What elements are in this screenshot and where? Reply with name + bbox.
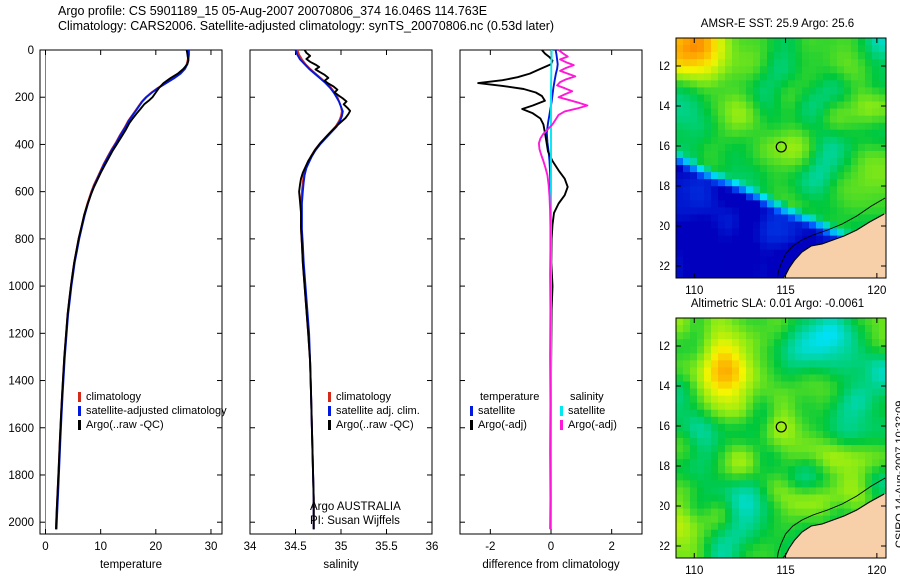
map-cell [865,374,873,382]
map-cell [711,438,719,446]
map-cell [844,396,852,404]
map-cell [816,318,824,326]
map-cell [676,346,684,354]
map-cell [774,250,782,258]
map-cell [753,410,761,418]
map-cell [760,551,768,559]
map-cell [697,431,705,439]
map-cell [746,109,754,117]
map-cell [795,207,803,215]
map-cell [774,214,782,222]
map-cell [718,144,726,152]
map-cell [816,214,824,222]
map-cell [795,45,803,53]
map-cell [690,257,698,265]
map-cell [767,382,775,390]
map-cell [788,45,796,53]
map-cell [676,186,684,194]
map-cell [823,466,831,474]
map-cell [704,236,712,244]
map-cell [774,236,782,244]
map-cell [781,367,789,375]
map-cell [830,389,838,397]
map-cell [858,116,866,124]
map-cell [725,466,733,474]
sla-map[interactable]: 110115120-12-14-16-18-20-22 [660,314,898,576]
map-cell [872,459,880,467]
map-cell [809,318,817,326]
map-cell [746,374,754,382]
map-cell [809,473,817,481]
map-cell [788,66,796,74]
map-cell [851,353,859,361]
map-cell [879,417,887,425]
map-cell [718,494,726,502]
map-cell [732,87,740,95]
map-cell [676,360,684,368]
map-cell [760,222,768,230]
map-cell [697,516,705,524]
map-cell [844,193,852,201]
map-cell [697,144,705,152]
map-cell [767,516,775,524]
map-cell [844,424,852,432]
map-cell [781,523,789,531]
map-cell [816,94,824,102]
map-cell [767,236,775,244]
map-cell [788,222,796,230]
map-cell [823,158,831,166]
map-cell [697,80,705,88]
map-cell [746,360,754,368]
map-cell [718,523,726,531]
map-cell [879,172,887,180]
map-cell [781,130,789,138]
map-cell [795,346,803,354]
map-cell [697,116,705,124]
map-cell [823,59,831,67]
map-cell [795,452,803,460]
map-cell [704,271,712,279]
map-cell [690,382,698,390]
map-cell [865,66,873,74]
x-tick-label: -2 [485,541,495,553]
map-cell [837,346,845,354]
map-cell [851,52,859,60]
map-cell [802,66,810,74]
map-cell [795,509,803,517]
legend-swatch [560,406,563,416]
map-cell [746,236,754,244]
map-cell [690,544,698,552]
map-cell [725,551,733,559]
map-cell [676,410,684,418]
map-cell [746,438,754,446]
map-cell [872,382,880,390]
map-cell [872,102,880,110]
map-cell [830,445,838,453]
map-cell [739,130,747,138]
map-cell [753,222,761,230]
map-cell [739,87,747,95]
map-cell [746,452,754,460]
map-cell [809,367,817,375]
map-cell [781,38,789,46]
map-cell [690,200,698,208]
map-cell [788,360,796,368]
map-cell [844,165,852,173]
map-cell [739,452,747,460]
map-cell [697,52,705,60]
map-cell [697,123,705,131]
map-cell [795,116,803,124]
map-cell [781,452,789,460]
map-cell [725,396,733,404]
map-cell [676,509,684,517]
map-cell [732,236,740,244]
map-cell [732,229,740,237]
map-cell [865,172,873,180]
map-cell [739,80,747,88]
map-cell [676,403,684,411]
map-cell [774,374,782,382]
map-cell [704,424,712,432]
map-cell [746,257,754,265]
map-cell [676,45,684,53]
map-cell [697,158,705,166]
map-cell [760,102,768,110]
map-cell [823,207,831,215]
map-cell [690,466,698,474]
map-cell [746,502,754,510]
map-cell [746,250,754,258]
map-cell [746,66,754,74]
legend-label: climatology [86,391,142,403]
map-cell [802,346,810,354]
map-cell [879,158,887,166]
map-cell [711,80,719,88]
map-cell [837,87,845,95]
map-cell [676,473,684,481]
sst-map[interactable]: 110115120-12-14-16-18-20-22 [660,34,898,296]
map-cell [746,339,754,347]
map-cell [844,431,852,439]
map-cell [858,332,866,340]
map-cell [718,193,726,201]
map-cell [753,229,761,237]
map-cell [683,243,691,251]
x-axis-label: temperature [100,559,162,571]
map-cell [711,431,719,439]
map-cell [809,424,817,432]
map-cell [725,318,733,326]
map-cell [732,396,740,404]
map-cell [704,59,712,67]
map-cell [844,403,852,411]
map-cell [683,445,691,453]
y-tick-label: 0 [28,45,34,57]
map-cell [676,271,684,279]
map-cell [851,94,859,102]
map-cell [872,158,880,166]
map-cell [704,109,712,117]
map-cell [683,45,691,53]
map-cell [746,200,754,208]
map-cell [760,466,768,474]
map-cell [795,360,803,368]
map-cell [781,165,789,173]
map-cell [830,214,838,222]
map-cell [704,186,712,194]
map-cell [767,537,775,545]
map-cell [795,38,803,46]
map-cell [879,410,887,418]
map-cell [837,353,845,361]
map-cell [760,200,768,208]
map-cell [837,360,845,368]
map-cell [837,229,845,237]
map-cell [718,346,726,354]
map-cell [676,94,684,102]
map-cell [851,222,859,230]
map-cell [704,116,712,124]
map-cell [823,52,831,60]
map-cell [879,332,887,340]
map-cell [760,537,768,545]
map-cell [795,165,803,173]
map-cell [732,360,740,368]
map-cell [732,52,740,60]
map-cell [816,431,824,439]
map-cell [739,332,747,340]
x-tick-label: 2 [608,541,614,553]
map-cell [697,537,705,545]
map-cell [858,52,866,60]
map-cell [781,473,789,481]
map-cell [690,516,698,524]
map-cell [760,158,768,166]
map-cell [872,424,880,432]
map-cell [872,151,880,159]
map-cell [683,116,691,124]
map-cell [844,66,852,74]
map-cell [711,509,719,517]
legend-swatch [470,420,473,430]
map-cell [753,66,761,74]
map-cell [788,229,796,237]
map-cell [718,431,726,439]
legend-label: Argo(..raw -QC) [336,419,414,431]
map-cell [725,346,733,354]
map-cell [739,374,747,382]
map-cell [711,339,719,347]
map-cell [851,66,859,74]
map-cell [851,87,859,95]
map-cell [879,374,887,382]
map-cell [816,137,824,145]
map-cell [851,130,859,138]
map-cell [788,502,796,510]
map-cell [844,137,852,145]
map-cell [760,544,768,552]
map-cell [795,94,803,102]
map-cell [858,374,866,382]
map-cell [697,466,705,474]
map-cell [732,389,740,397]
map-cell [760,367,768,375]
map-cell [858,193,866,201]
map-cell [690,109,698,117]
map-cell [837,431,845,439]
map-cell [746,229,754,237]
map-cell [704,339,712,347]
map-cell [851,123,859,131]
map-cell [711,200,719,208]
map-cell [872,94,880,102]
map-cell [760,109,768,117]
map-cell [697,374,705,382]
map-cell [767,243,775,251]
map-cell [711,243,719,251]
map-cell [760,165,768,173]
map-cell [711,396,719,404]
map-cell [704,438,712,446]
y-tick-label: 1400 [8,376,34,388]
map-cell [809,144,817,152]
map-cell [746,367,754,375]
map-cell [788,530,796,538]
map-cell [830,410,838,418]
map-cell [823,374,831,382]
map-cell [816,151,824,159]
map-cell [837,45,845,53]
map-cell [683,353,691,361]
map-cell [865,179,873,187]
map-cell [746,487,754,495]
map-cell [781,102,789,110]
map-cell [746,116,754,124]
map-cell [718,509,726,517]
map-cell [760,151,768,159]
map-cell [879,38,887,46]
map-cell [774,222,782,230]
x-tick-label: 10 [94,541,107,553]
map-cell [816,80,824,88]
map-cell [837,200,845,208]
map-cell [704,516,712,524]
map-cell [746,551,754,559]
map-cell [802,94,810,102]
map-cell [851,59,859,67]
map-cell [816,109,824,117]
map-cell [802,417,810,425]
map-cell [774,243,782,251]
map-cell [879,367,887,375]
map-cell [718,109,726,117]
map-cell [788,403,796,411]
x-tick-label: 20 [149,541,162,553]
map-cell [879,200,887,208]
map-cell [865,52,873,60]
map-cell [767,165,775,173]
map-cell [872,186,880,194]
map-cell [865,45,873,53]
map-cell [872,193,880,201]
map-cell [879,151,887,159]
map-cell [683,87,691,95]
map-cell [697,494,705,502]
map-cell [795,410,803,418]
map-cell [676,353,684,361]
map-cell [725,374,733,382]
map-cell [795,186,803,194]
map-cell [725,116,733,124]
map-cell [683,339,691,347]
map-cell [809,116,817,124]
map-cell [865,353,873,361]
map-cell [788,193,796,201]
map-cell [711,318,719,326]
map-cell [802,509,810,517]
map-cell [781,494,789,502]
map-cell [823,487,831,495]
map-cell [746,537,754,545]
map-cell [788,144,796,152]
map-cell [732,222,740,230]
y-tick-label: 800 [15,234,34,246]
map-cell [683,151,691,159]
map-cell [767,396,775,404]
map-cell [879,353,887,361]
map-cell [781,80,789,88]
map-cell [760,417,768,425]
map-cell [697,403,705,411]
map-cell [697,236,705,244]
map-cell [704,102,712,110]
map-cell [739,523,747,531]
map-cell [795,52,803,60]
map-cell [788,165,796,173]
map-cell [837,207,845,215]
map-cell [732,165,740,173]
map-cell [739,207,747,215]
map-cell [746,158,754,166]
map-cell [830,396,838,404]
credit-org: Argo AUSTRALIA [310,501,401,513]
y-tick-label: 1800 [8,470,34,482]
map-cell [837,137,845,145]
map-cell [718,516,726,524]
map-cell [711,102,719,110]
map-cell [718,66,726,74]
map-cell [739,38,747,46]
map-cell [718,87,726,95]
map-cell [865,158,873,166]
map-cell [711,186,719,194]
map-cell [753,73,761,81]
map-cell [865,332,873,340]
map-cell [767,214,775,222]
map-cell [767,38,775,46]
map-cell [725,236,733,244]
map-cell [718,250,726,258]
map-cell [816,165,824,173]
map-cell [774,445,782,453]
map-cell [774,480,782,488]
difference-plot[interactable]: -202difference from climatologytemperatu… [420,38,670,580]
map-cell [851,367,859,375]
map-cell [795,487,803,495]
